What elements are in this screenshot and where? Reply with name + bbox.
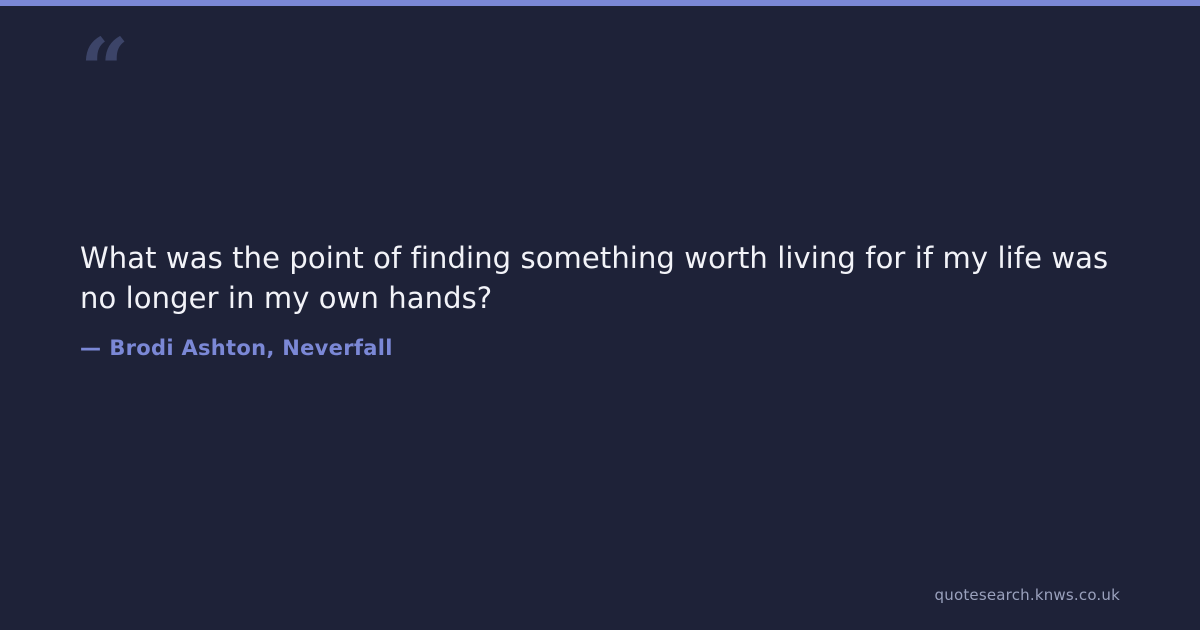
quote-text: What was the point of finding something … <box>80 238 1120 318</box>
attribution-dash: — <box>80 336 101 360</box>
quote-attribution: —Brodi Ashton, Neverfall <box>80 336 393 360</box>
accent-top-bar <box>0 0 1200 6</box>
quote-card: “ What was the point of finding somethin… <box>0 0 1200 630</box>
site-watermark: quotesearch.knws.co.uk <box>935 586 1120 604</box>
attribution-author-source: Brodi Ashton, Neverfall <box>109 336 392 360</box>
quote-mark-icon: “ <box>80 28 127 114</box>
